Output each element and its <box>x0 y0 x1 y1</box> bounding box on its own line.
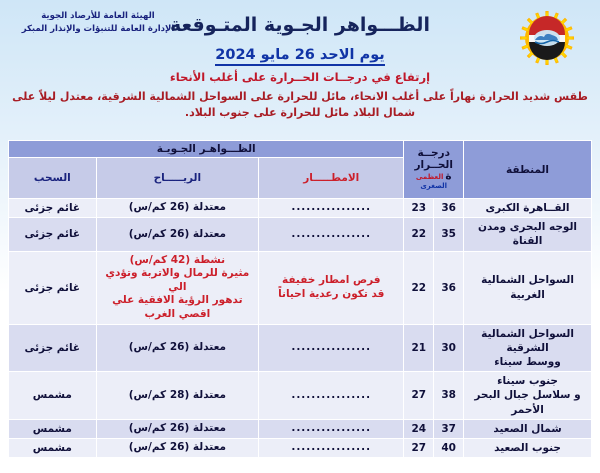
cell-wind: معتدلة (26 كم/س) <box>97 420 259 438</box>
column-header-clouds: السحب <box>9 158 96 198</box>
cell-clouds: غائم جزئى <box>9 325 96 372</box>
cell-clouds: غائم جزئى <box>9 218 96 250</box>
cell-clouds: غائم جزئى <box>9 199 96 217</box>
cell-wind: نشطة (42 كم/س)مثيرة للرمال والاتربة وتؤد… <box>97 252 259 324</box>
table-row: شمال الصعيد3724................معتدلة (2… <box>9 420 591 438</box>
cell-wind: معتدلة (26 كم/س) <box>97 199 259 217</box>
column-header-temperature: درجــة الحــرار ةالعظمى الصغرى <box>404 141 463 198</box>
cell-temp-min: 23 <box>404 199 433 217</box>
forecast-table-wrapper: المنطقة درجــة الحــرار ةالعظمى الصغرى ا… <box>8 140 592 458</box>
cell-rain: ................ <box>259 439 403 457</box>
cell-rain: فرص امطار خفيفةقد تكون رعدية احياناً <box>259 252 403 324</box>
table-body: القــاهرة الكبرى3623................معتد… <box>9 199 591 457</box>
cell-rain: ................ <box>259 420 403 438</box>
column-header-region: المنطقة <box>464 141 591 198</box>
table-row: جنوب الصعيد4027................معتدلة (2… <box>9 439 591 457</box>
cell-temp-max: 38 <box>434 372 463 419</box>
cell-temp-min: 22 <box>404 218 433 250</box>
cell-rain: ................ <box>259 199 403 217</box>
temp-header-line1: درجــة <box>407 148 460 160</box>
weather-forecast-page: { "header": { "agency_line1": "الهيئة ال… <box>0 0 600 473</box>
cell-wind: معتدلة (26 كم/س) <box>97 218 259 250</box>
cell-region: القــاهرة الكبرى <box>464 199 591 217</box>
cell-wind: معتدلة (26 كم/س) <box>97 439 259 457</box>
page-title: الظـــواهر الجـوية المتـوقعة <box>0 14 600 36</box>
table-row: الوجه البحرى ومدن القناة3522............… <box>9 218 591 250</box>
cell-temp-max: 36 <box>434 199 463 217</box>
cell-clouds: غائم جزئى <box>9 252 96 324</box>
forecast-date-wrap: يوم الاحد 26 مايو 2024 <box>0 44 600 66</box>
cell-clouds: مشمس <box>9 420 96 438</box>
temp-header-line3: ة <box>445 170 451 182</box>
table-row: جنوب سيناءو سلاسل جبال البحر الأحمر3827.… <box>9 372 591 419</box>
temp-header-line2: الحــرار <box>407 160 460 172</box>
cell-region: جنوب الصعيد <box>464 439 591 457</box>
cell-region: السواحل الشمالية الشرقيةووسط سيناء <box>464 325 591 372</box>
cell-temp-min: 27 <box>404 372 433 419</box>
cell-temp-max: 37 <box>434 420 463 438</box>
cell-temp-max: 40 <box>434 439 463 457</box>
forecast-description: طقس شديد الحرارة نهاراً على أغلب الانحاء… <box>6 89 594 121</box>
cell-clouds: مشمس <box>9 372 96 419</box>
cell-temp-min: 21 <box>404 325 433 372</box>
cell-rain: ................ <box>259 325 403 372</box>
cell-temp-min: 22 <box>404 252 433 324</box>
cell-region: جنوب سيناءو سلاسل جبال البحر الأحمر <box>464 372 591 419</box>
page-header: الهيئة العامة للأرصاد الجوية الإدارة الع… <box>0 0 600 137</box>
cell-wind: معتدلة (26 كم/س) <box>97 325 259 372</box>
table-row: القــاهرة الكبرى3623................معتد… <box>9 199 591 217</box>
table-row: السواحل الشمالية الشرقيةووسط سيناء3021..… <box>9 325 591 372</box>
cell-wind: معتدلة (28 كم/س) <box>97 372 259 419</box>
column-header-wind: الريـــــاح <box>97 158 259 198</box>
cell-temp-max: 30 <box>434 325 463 372</box>
cell-clouds: مشمس <box>9 439 96 457</box>
cell-region: السواحل الشمالية الغربية <box>464 252 591 324</box>
forecast-table: المنطقة درجــة الحــرار ةالعظمى الصغرى ا… <box>8 140 592 458</box>
cell-temp-min: 27 <box>404 439 433 457</box>
temp-header-min-label: الصغرى <box>407 183 460 191</box>
temp-header-max-label: العظمى <box>416 174 444 182</box>
cell-rain: ................ <box>259 218 403 250</box>
forecast-headline: إرتفاع في درجــات الحــرارة على أغلب الأ… <box>0 70 600 84</box>
cell-temp-max: 35 <box>434 218 463 250</box>
cell-region: الوجه البحرى ومدن القناة <box>464 218 591 250</box>
cell-temp-min: 24 <box>404 420 433 438</box>
table-head: المنطقة درجــة الحــرار ةالعظمى الصغرى ا… <box>9 141 591 198</box>
cell-region: شمال الصعيد <box>464 420 591 438</box>
column-header-rain: الامطـــــار <box>259 158 403 198</box>
cell-rain: ................ <box>259 372 403 419</box>
table-head-row-1: المنطقة درجــة الحــرار ةالعظمى الصغرى ا… <box>9 141 591 157</box>
table-row: السواحل الشمالية الغربية3622فرص امطار خف… <box>9 252 591 324</box>
cell-temp-max: 36 <box>434 252 463 324</box>
forecast-date: يوم الاحد 26 مايو 2024 <box>215 47 384 66</box>
column-header-phenomena-group: الظـــواهـر الجـويـة <box>9 141 403 157</box>
